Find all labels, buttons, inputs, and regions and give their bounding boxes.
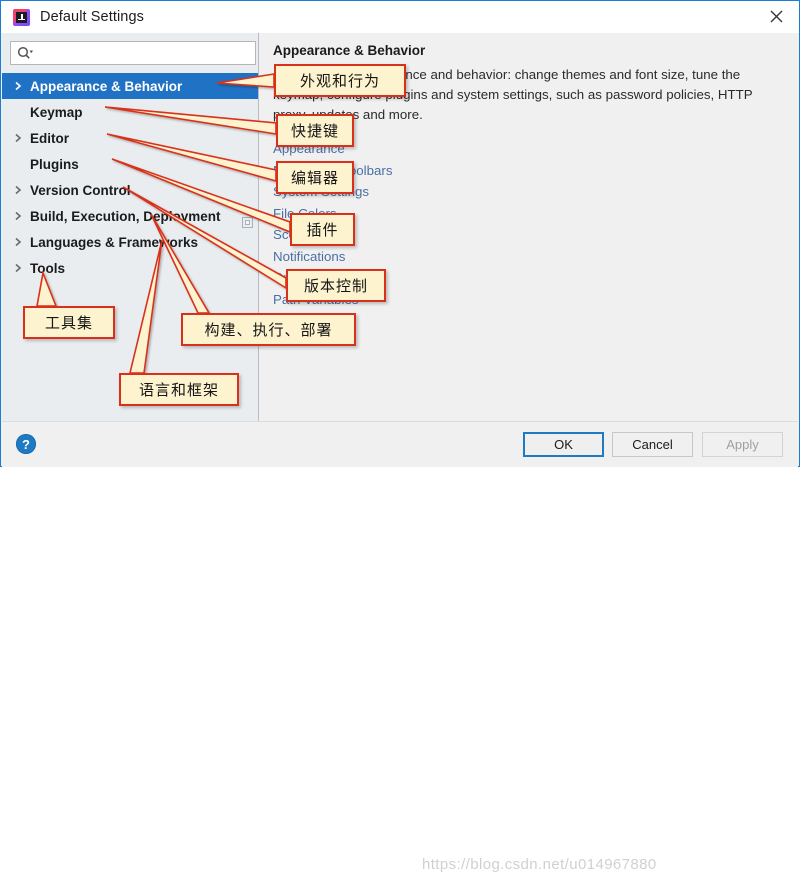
settings-tree: Appearance & Behavior Keymap Editor Plug… (2, 73, 258, 281)
tree-item-version-control[interactable]: Version Control (2, 177, 258, 203)
tree-item-keymap[interactable]: Keymap (2, 99, 258, 125)
callout-appearance-behavior[interactable]: 外观和行为 (274, 64, 406, 97)
ok-button[interactable]: OK (523, 432, 604, 457)
chevron-right-icon[interactable] (10, 185, 26, 195)
copy-settings-icon[interactable] (242, 217, 253, 228)
callout-build-execution-deployment[interactable]: 构建、执行、部署 (181, 313, 356, 346)
detail-title: Appearance & Behavior (273, 43, 425, 58)
window-title: Default Settings (40, 9, 144, 25)
callout-version-control[interactable]: 版本控制 (286, 269, 386, 302)
chevron-right-icon[interactable] (10, 133, 26, 143)
tree-item-label: Version Control (30, 183, 131, 198)
tree-item-editor[interactable]: Editor (2, 125, 258, 151)
callout-plugins[interactable]: 插件 (290, 213, 355, 246)
tree-item-label: Keymap (30, 105, 83, 120)
search-input[interactable] (33, 43, 255, 63)
help-icon[interactable]: ? (16, 434, 36, 454)
tree-item-build-execution-deployment[interactable]: Build, Execution, Deployment (2, 203, 258, 229)
callout-tools[interactable]: 工具集 (23, 306, 115, 339)
chevron-right-icon[interactable] (10, 211, 26, 221)
apply-button: Apply (702, 432, 783, 457)
search-icon (17, 46, 33, 60)
tree-item-tools[interactable]: Tools (2, 255, 258, 281)
tree-item-label: Build, Execution, Deployment (30, 209, 221, 224)
intellij-idea-icon (13, 9, 30, 26)
tree-item-label: Editor (30, 131, 69, 146)
callout-editor[interactable]: 编辑器 (276, 161, 354, 194)
settings-dialog: Default Settings (0, 0, 800, 467)
close-icon[interactable] (753, 1, 799, 32)
watermark-text: https://blog.csdn.net/u014967880 (422, 856, 800, 876)
chevron-right-icon[interactable] (10, 237, 26, 247)
title-bar: Default Settings (1, 1, 799, 34)
callout-languages-frameworks[interactable]: 语言和框架 (119, 373, 239, 406)
detail-link-notifications[interactable]: Notifications (273, 246, 573, 268)
tree-item-label: Tools (30, 261, 65, 276)
tree-item-label: Languages & Frameworks (30, 235, 198, 250)
tree-item-label: Plugins (30, 157, 79, 172)
dialog-footer: ? OK Cancel Apply https://blog.csdn.net/… (2, 421, 798, 467)
settings-tree-pane: Appearance & Behavior Keymap Editor Plug… (2, 33, 258, 421)
search-box[interactable] (10, 41, 256, 65)
chevron-right-icon[interactable] (10, 263, 26, 273)
tree-item-plugins[interactable]: Plugins (2, 151, 258, 177)
cancel-button[interactable]: Cancel (612, 432, 693, 457)
tree-item-label: Appearance & Behavior (30, 79, 182, 94)
tree-item-languages-frameworks[interactable]: Languages & Frameworks (2, 229, 258, 255)
callout-keymap[interactable]: 快捷键 (276, 114, 354, 147)
tree-item-appearance-behavior[interactable]: Appearance & Behavior (2, 73, 258, 99)
chevron-right-icon[interactable] (10, 81, 26, 91)
